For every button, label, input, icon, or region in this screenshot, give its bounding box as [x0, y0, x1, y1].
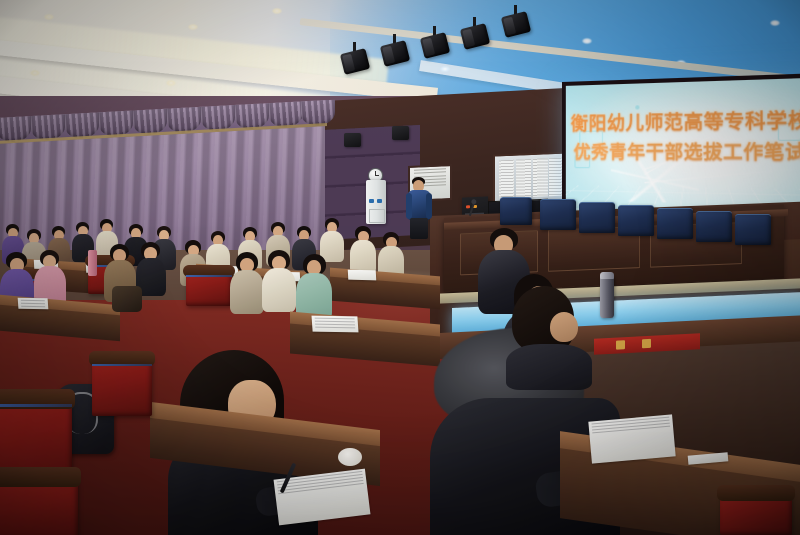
- audience-chair: [720, 488, 792, 535]
- tissue: [338, 448, 362, 466]
- thermos-bottle: [600, 276, 614, 318]
- exam-paper: [348, 270, 376, 281]
- dispenser-hot-tap: [369, 199, 374, 203]
- stage-chair: [657, 208, 693, 239]
- stage-spotlight-icon: [503, 5, 529, 35]
- water-dispenser: [366, 180, 386, 224]
- arm-left: [406, 193, 412, 219]
- stage-chair: [579, 202, 615, 233]
- screen-title-line2: 优秀青年干部选拔工作笔试: [566, 140, 800, 168]
- wall-speaker-icon: [392, 126, 409, 140]
- screen-title-line1: 衡阳幼儿师范高等专科学校: [566, 107, 800, 137]
- stage-spotlight-icon: [462, 17, 488, 47]
- stage-spotlight-icon: [422, 26, 448, 56]
- stage-spotlight-icon: [342, 42, 368, 72]
- candidate: [296, 254, 332, 320]
- wall-speaker-icon: [344, 133, 361, 147]
- status-led-red: [466, 205, 470, 208]
- candidate-ponytail: [506, 286, 592, 390]
- screen-title-block: 衡阳幼儿师范高等专科学校 优秀青年干部选拔工作笔试: [566, 107, 800, 167]
- audience-chair: [186, 268, 232, 306]
- exam-paper-foreground: [588, 414, 675, 463]
- photo-scene: 衡阳幼儿师范高等专科学校 优秀青年干部选拔工作笔试: [0, 0, 800, 535]
- downlight-icon: [44, 14, 54, 20]
- candidate: [350, 226, 376, 274]
- stage-chair: [735, 214, 771, 245]
- handbag: [112, 286, 142, 312]
- stage-chair: [540, 199, 576, 230]
- stage-spotlight-icon: [382, 34, 408, 64]
- trousers: [410, 218, 428, 239]
- dispenser-cold-tap: [377, 199, 382, 203]
- audience-chair-foreground: [0, 470, 78, 535]
- stage-chair: [618, 205, 654, 236]
- thermos-bottle: [88, 250, 97, 276]
- arm-right: [426, 193, 432, 219]
- exam-paper: [18, 298, 49, 310]
- audience-chair: [92, 354, 152, 416]
- thermos-cap: [600, 272, 614, 279]
- invigilator: [406, 177, 432, 239]
- stage-chair: [696, 211, 732, 242]
- downlight-icon: [166, 80, 176, 86]
- candidate: [262, 250, 296, 312]
- candidate: [230, 252, 264, 314]
- downlight-icon: [582, 38, 592, 44]
- dispenser-door: [369, 209, 385, 223]
- exam-paper: [311, 316, 358, 333]
- downlight-icon: [272, 8, 282, 14]
- downlight-icon: [188, 24, 198, 30]
- downlight-icon: [770, 20, 780, 26]
- downlight-icon: [440, 66, 450, 72]
- stage-chair: [500, 197, 532, 225]
- downlight-icon: [30, 70, 40, 76]
